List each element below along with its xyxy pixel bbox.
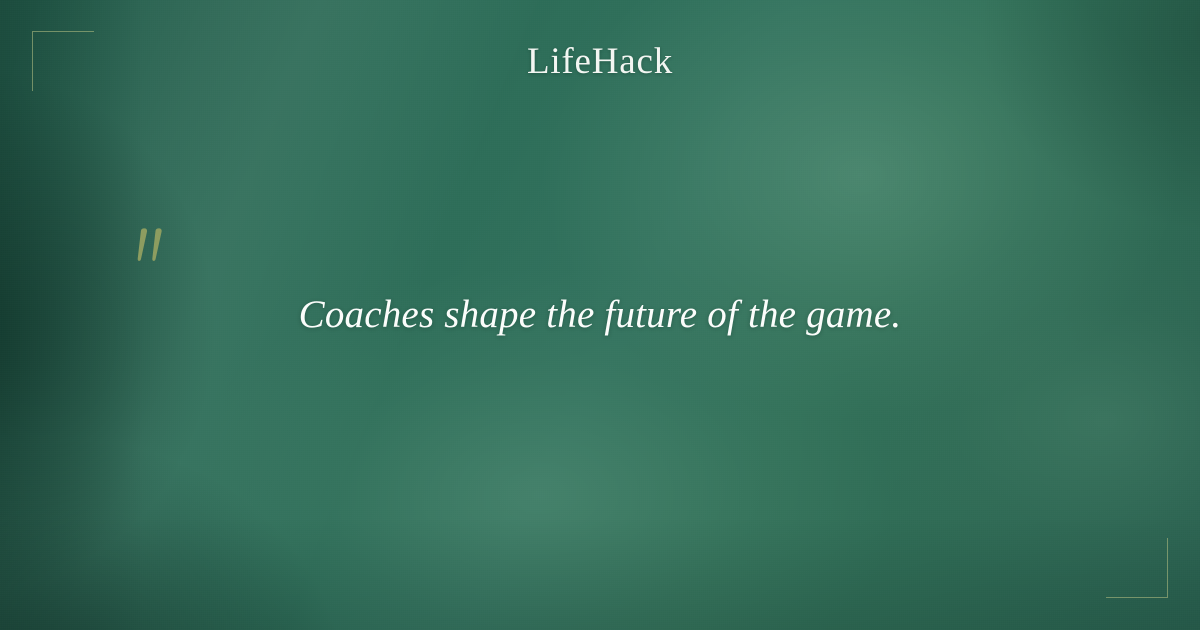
brand-logo: LifeHack <box>0 40 1200 84</box>
quote-container: Coaches shape the future of the game. <box>0 289 1200 341</box>
quote-card: LifeHack Coaches shape the future of the… <box>0 0 1200 630</box>
quotation-mark-icon <box>131 227 175 269</box>
quote-text: Coaches shape the future of the game. <box>140 289 1060 341</box>
